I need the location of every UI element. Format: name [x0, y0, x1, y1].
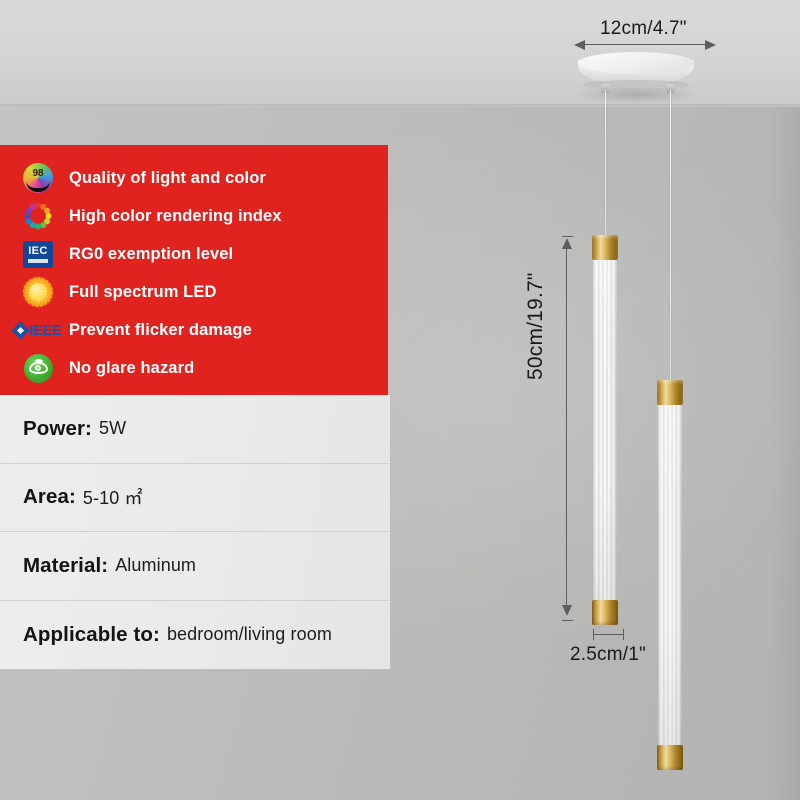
spec-key: Area: — [23, 485, 76, 509]
ceiling-canopy — [578, 52, 694, 88]
spec-key: Power: — [23, 417, 92, 441]
eye-no-glare-icon — [18, 351, 58, 385]
features-panel: 98Quality of light and colorHigh color r… — [0, 145, 388, 395]
tube-length-arrow-down — [562, 605, 572, 616]
tube-diameter-tick-left — [593, 629, 594, 640]
feature-row: Full spectrum LED — [0, 273, 388, 311]
ieee-logo-icon: IEEE — [18, 313, 58, 347]
color-wheel-icon — [18, 199, 58, 233]
tube-length-dim-line — [566, 248, 567, 606]
spec-value: Aluminum — [115, 555, 196, 576]
canopy-width-arrow-right — [705, 40, 716, 50]
spec-value: 5-10 ㎡ — [83, 484, 143, 510]
cri-98-badge-icon: 98 — [18, 161, 58, 195]
canopy-width-arrow-left — [574, 40, 585, 50]
feature-label: Full spectrum LED — [69, 283, 216, 302]
suspension-cord-right — [670, 90, 672, 380]
spec-row: Applicable to:bedroom/living room — [0, 601, 390, 670]
feature-label: Prevent flicker damage — [69, 321, 252, 340]
feature-row: High color rendering index — [0, 197, 388, 235]
feature-label: Quality of light and color — [69, 169, 266, 188]
tube-length-arrow-up — [562, 238, 572, 249]
tube-diameter-label: 2.5cm/1" — [570, 644, 646, 666]
tube-sheen-overlay — [593, 260, 617, 600]
spec-row: Material:Aluminum — [0, 532, 390, 601]
tube-gold-cap-bottom — [592, 600, 618, 625]
specifications-table: Power:5WArea:5-10 ㎡Material:AluminumAppl… — [0, 395, 390, 669]
product-spec-scene: 12cm/4.7" 50cm/19.7" 2.5cm/1" 98Quality … — [0, 0, 800, 800]
tube-gold-cap-top — [657, 380, 683, 405]
led-tube-long — [592, 235, 618, 625]
spec-row: Area:5-10 ㎡ — [0, 464, 390, 533]
tube-length-label: 50cm/19.7" — [524, 272, 548, 380]
feature-row: No glare hazard — [0, 349, 388, 387]
spec-value: 5W — [99, 418, 126, 439]
spec-row: Power:5W — [0, 395, 390, 464]
feature-label: RG0 exemption level — [69, 245, 233, 264]
feature-row: 98Quality of light and color — [0, 159, 388, 197]
tube-gold-cap-bottom — [657, 745, 683, 770]
tube-diameter-dim-line — [594, 634, 624, 635]
spec-key: Material: — [23, 554, 108, 578]
feature-label: No glare hazard — [69, 359, 194, 378]
iec-certification-icon: IEC — [18, 237, 58, 271]
feature-label: High color rendering index — [69, 207, 282, 226]
tube-length-tick-bottom — [562, 620, 573, 621]
canopy-ceiling-shadow — [572, 88, 700, 104]
features-list: 98Quality of light and colorHigh color r… — [0, 145, 388, 395]
spec-value: bedroom/living room — [167, 624, 332, 645]
tube-length-tick-top — [562, 236, 573, 237]
canopy-width-label: 12cm/4.7" — [600, 18, 687, 40]
tube-gold-cap-top — [592, 235, 618, 260]
tube-sheen-overlay — [658, 405, 682, 745]
feature-row: IEEEPrevent flicker damage — [0, 311, 388, 349]
canopy-width-dim-line — [584, 44, 706, 45]
suspension-cord-left — [605, 90, 607, 235]
tube-diameter-tick-right — [623, 629, 624, 640]
spec-key: Applicable to: — [23, 623, 160, 647]
sun-full-spectrum-icon — [18, 275, 58, 309]
canopy-top-disc — [578, 52, 694, 74]
led-tube-short — [657, 380, 683, 770]
wall-corner-shadow — [770, 107, 800, 800]
feature-row: IECRG0 exemption level — [0, 235, 388, 273]
